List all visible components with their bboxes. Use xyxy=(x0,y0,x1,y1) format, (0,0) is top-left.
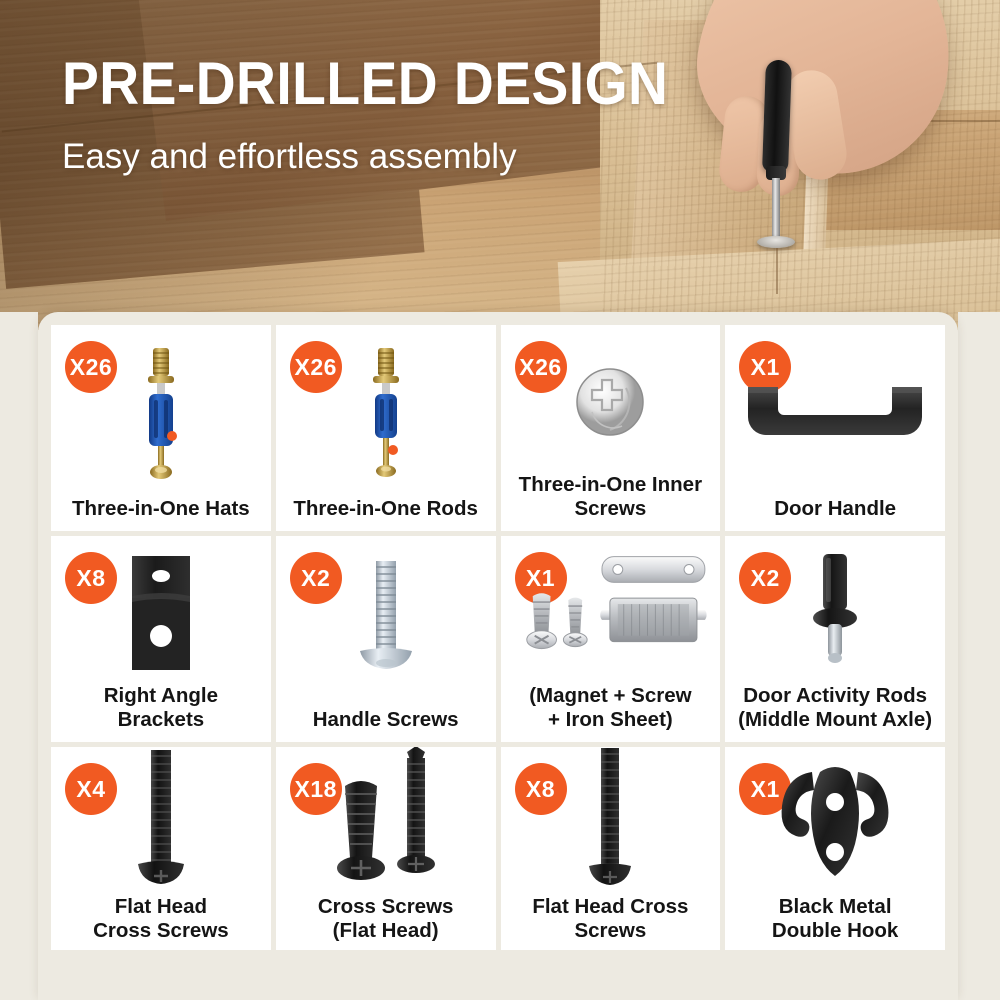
part-cell: X26Three-in-One Hats xyxy=(51,325,271,531)
cam-rod-blue-icon xyxy=(282,331,490,497)
door-handle-icon xyxy=(731,331,939,497)
part-label: (Magnet + Screw + Iron Sheet) xyxy=(507,684,715,734)
angle-bracket-icon xyxy=(57,542,265,684)
flat-head-cross-screw-icon xyxy=(57,753,265,895)
part-cell: X8Flat Head Cross Screws xyxy=(501,747,721,953)
panel-margin-left xyxy=(0,312,38,1000)
part-label: Three-in-One Hats xyxy=(57,497,265,523)
part-label: Three-in-One Inner Screws xyxy=(507,473,715,523)
part-label: Right Angle Brackets xyxy=(57,684,265,734)
parts-list-panel: X26Three-in-One HatsX26Three-in-One Rods… xyxy=(38,312,958,1000)
cam-bolt-blue-icon xyxy=(57,331,265,497)
cam-disc-icon xyxy=(507,331,715,473)
part-label: Door Activity Rods (Middle Mount Axle) xyxy=(731,684,939,734)
page-title: PRE-DRILLED DESIGN xyxy=(62,52,668,116)
door-activity-rod-icon xyxy=(731,542,939,684)
part-label: Black Metal Double Hook xyxy=(731,895,939,945)
part-cell: X18Cross Screws (Flat Head) xyxy=(276,747,496,953)
part-cell: X2Door Activity Rods (Middle Mount Axle) xyxy=(725,536,945,742)
part-cell: X1(Magnet + Screw + Iron Sheet) xyxy=(501,536,721,742)
part-cell: X1Black Metal Double Hook xyxy=(725,747,945,953)
flat-head-cross-screw-long-icon xyxy=(507,753,715,895)
double-hook-icon xyxy=(731,753,939,895)
panel-bottom-filler xyxy=(38,950,958,1000)
part-cell: X1Door Handle xyxy=(725,325,945,531)
magnet-catch-icon xyxy=(507,542,715,684)
part-label: Three-in-One Rods xyxy=(282,497,490,523)
part-cell: X26Three-in-One Rods xyxy=(276,325,496,531)
cross-screws-pair-icon xyxy=(282,753,490,895)
handle-screw-icon xyxy=(282,542,490,708)
part-label: Handle Screws xyxy=(282,708,490,734)
infographic-root: PRE-DRILLED DESIGN Easy and effortless a… xyxy=(0,0,1000,1000)
part-cell: X2Handle Screws xyxy=(276,536,496,742)
part-cell: X26Three-in-One Inner Screws xyxy=(501,325,721,531)
part-label: Door Handle xyxy=(731,497,939,523)
parts-grid: X26Three-in-One HatsX26Three-in-One Rods… xyxy=(51,325,945,953)
part-cell: X4Flat Head Cross Screws xyxy=(51,747,271,953)
panel-margin-right xyxy=(958,312,1000,1000)
part-cell: X8Right Angle Brackets xyxy=(51,536,271,742)
page-subtitle: Easy and effortless assembly xyxy=(62,136,517,178)
